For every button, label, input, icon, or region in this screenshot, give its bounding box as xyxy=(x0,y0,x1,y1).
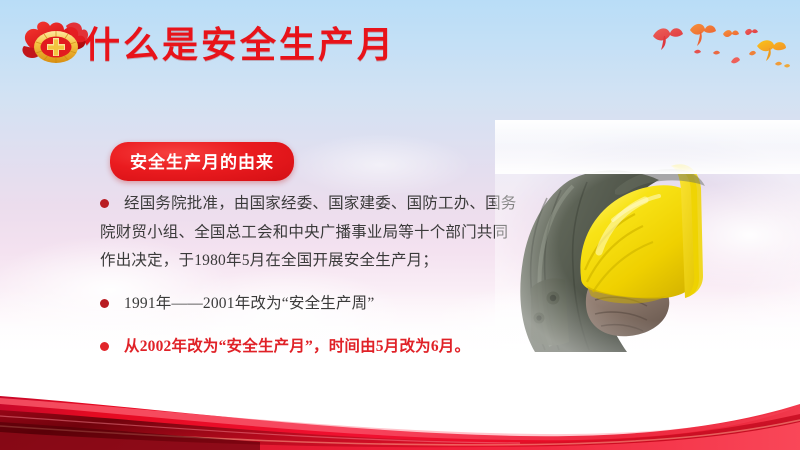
flying-birds-icon xyxy=(645,14,795,84)
page-title: 什么是安全生产月 xyxy=(84,27,396,63)
slide-canvas: 什么是安全生产月 xyxy=(0,0,800,450)
body-content: 经国务院批准，由国家经委、国家建委、国防工办、国务院财贸小组、全国总工会和中央广… xyxy=(100,190,520,361)
bullet-dot-icon xyxy=(100,342,109,351)
list-item: 1991年——2001年改为“安全生产周” xyxy=(100,290,520,319)
list-item: 经国务院批准，由国家经委、国家建委、国防工办、国务院财贸小组、全国总工会和中央广… xyxy=(100,190,520,276)
hard-hat-photo xyxy=(495,120,800,370)
section-heading-badge: 安全生产月的由来 xyxy=(110,142,294,181)
bullet-text: 1991年——2001年改为“安全生产周” xyxy=(100,290,520,319)
red-ribbon-wave xyxy=(0,370,800,450)
bullet-text: 经国务院批准，由国家经委、国家建委、国防工办、国务院财贸小组、全国总工会和中央广… xyxy=(100,190,520,276)
bullet-dot-icon xyxy=(100,199,109,208)
list-item: 从2002年改为“安全生产月”，时间由5月改为6月。 xyxy=(100,333,520,362)
safety-production-emblem-icon xyxy=(20,16,92,74)
slide-title-row: 什么是安全生产月 xyxy=(20,14,396,76)
bullet-text: 从2002年改为“安全生产月”，时间由5月改为6月。 xyxy=(100,333,520,362)
bullet-dot-icon xyxy=(100,299,109,308)
